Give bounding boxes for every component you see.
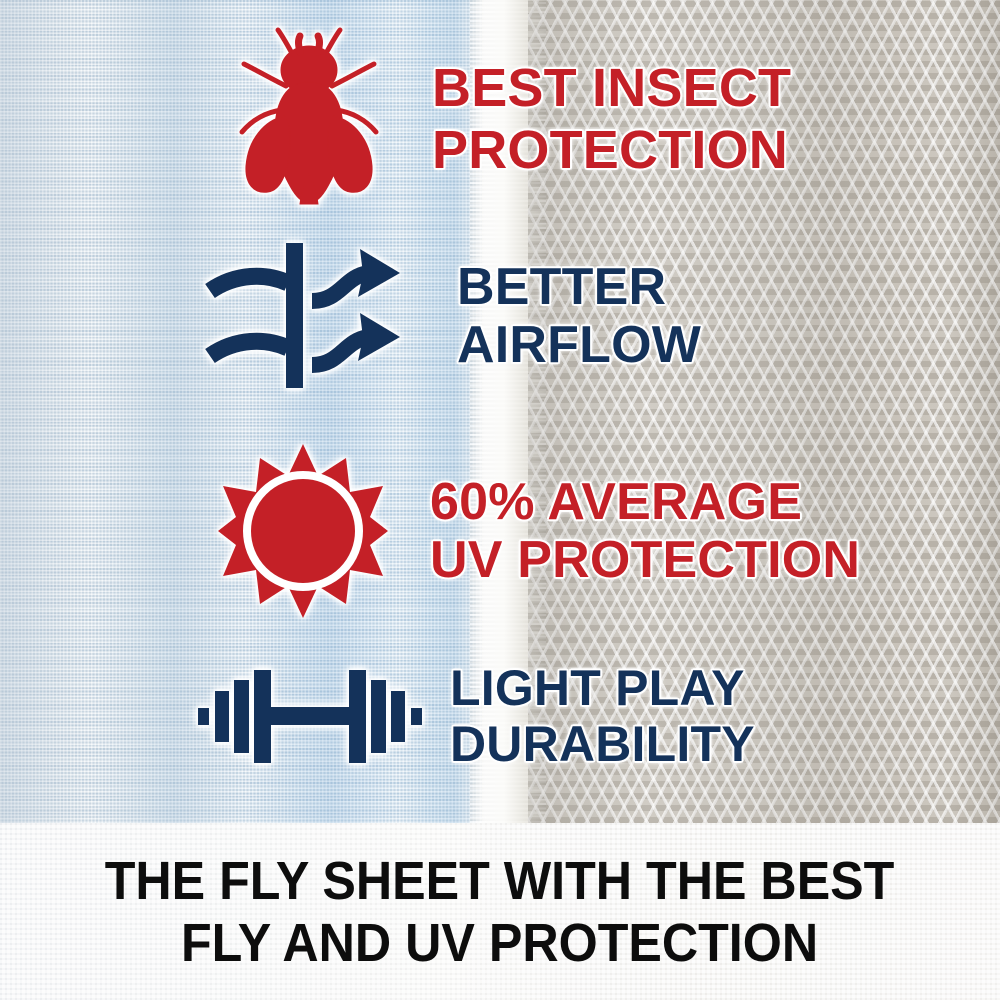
caption-line-2: FLY AND UV PROTECTION: [181, 912, 818, 974]
bottom-caption-band: THE FLY SHEET WITH THE BEST FLY AND UV P…: [0, 823, 1000, 1000]
airflow-arrows-icon: [200, 243, 415, 388]
feature-line-2: AIRFLOW: [457, 316, 701, 374]
dumbbell-icon: [196, 666, 424, 766]
airflow-icon-wrap: [200, 243, 415, 388]
feature-row-uv-protection: 60% AVERAGE UV PROTECTION: [218, 442, 860, 620]
sun-icon: [218, 442, 388, 620]
feature-row-insect-protection: BEST INSECT PROTECTION: [228, 24, 791, 214]
sun-icon-wrap: [218, 442, 388, 620]
feature-line-1: BETTER: [457, 258, 701, 316]
feature-row-durability: LIGHT PLAY DURABILITY: [196, 660, 755, 772]
caption-line-1: THE FLY SHEET WITH THE BEST: [105, 850, 895, 912]
feature-row-airflow: BETTER AIRFLOW: [200, 243, 701, 388]
feature-label-durability: LIGHT PLAY DURABILITY: [450, 660, 755, 772]
infographic-root: BEST INSECT PROTECTION: [0, 0, 1000, 1000]
fly-icon: [228, 24, 388, 214]
feature-line-2: DURABILITY: [450, 716, 755, 772]
feature-label-airflow: BETTER AIRFLOW: [457, 258, 701, 374]
feature-line-1: BEST INSECT: [432, 57, 791, 119]
feature-label-uv-protection: 60% AVERAGE UV PROTECTION: [430, 473, 860, 589]
feature-label-insect-protection: BEST INSECT PROTECTION: [432, 57, 791, 181]
fly-icon-wrap: [228, 24, 388, 214]
feature-line-1: LIGHT PLAY: [450, 660, 755, 716]
feature-line-2: PROTECTION: [432, 119, 791, 181]
feature-line-1: 60% AVERAGE: [430, 473, 860, 531]
feature-line-2: UV PROTECTION: [430, 531, 860, 589]
dumbbell-icon-wrap: [196, 666, 424, 766]
